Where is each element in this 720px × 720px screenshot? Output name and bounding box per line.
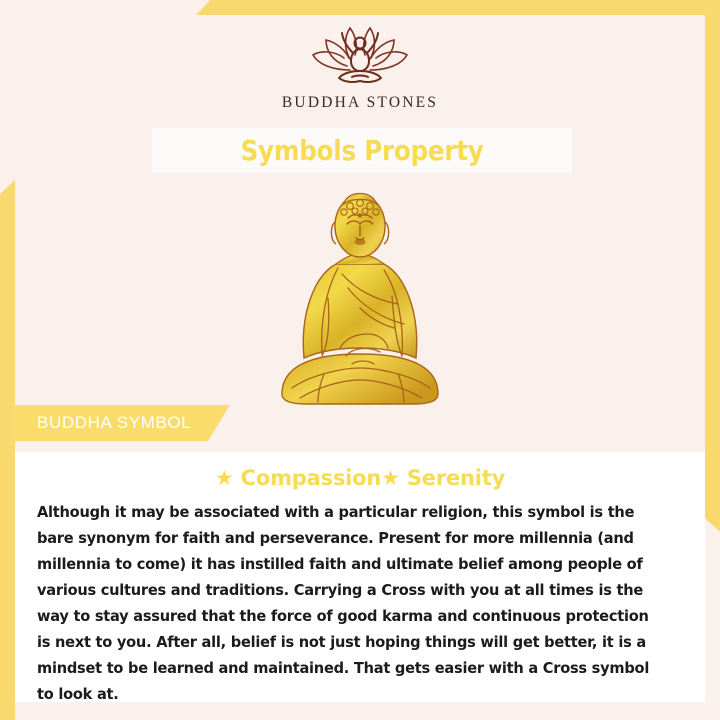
lotus-meditation-icon: [304, 22, 416, 88]
page-title: Symbols Property: [240, 134, 483, 167]
left-accent-bar: [0, 180, 15, 720]
right-accent-bar: [705, 14, 720, 532]
section-subheading: ★ Compassion★ Serenity: [37, 466, 683, 490]
top-accent-bar: [196, 0, 720, 15]
body-paragraph: Although it may be associated with a par…: [37, 499, 657, 707]
brand-name: BUDDHA STONES: [282, 94, 438, 112]
content-card: ★ Compassion★ Serenity Although it may b…: [15, 452, 705, 702]
hero-image-container: [0, 178, 720, 410]
page-title-band: Symbols Property: [152, 128, 572, 173]
brand-header: BUDDHA STONES: [0, 0, 720, 128]
golden-buddha-statue-icon: [264, 178, 456, 410]
badge-label: BUDDHA SYMBOL: [15, 413, 191, 433]
status-badge: BUDDHA SYMBOL: [15, 405, 230, 441]
